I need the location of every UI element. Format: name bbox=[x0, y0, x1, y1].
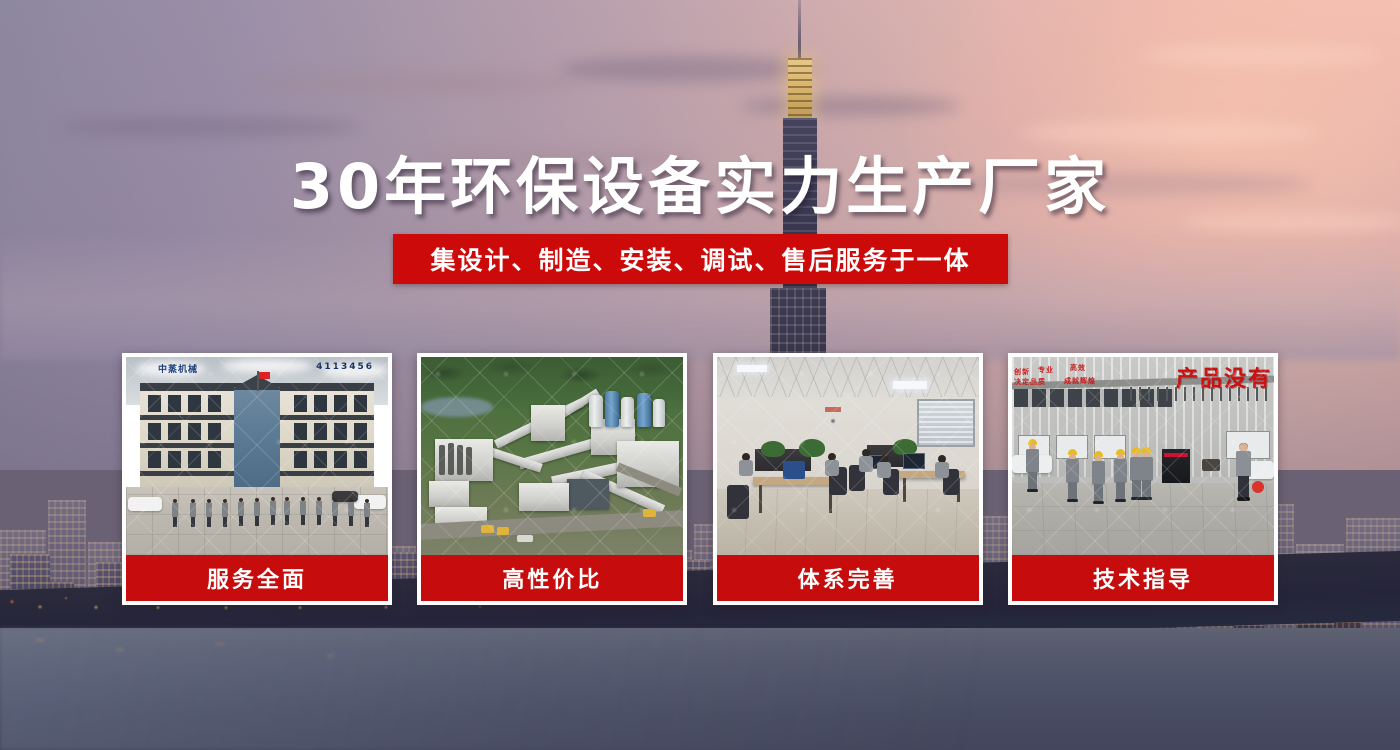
water-reflections bbox=[0, 630, 520, 676]
feature-card[interactable]: 高性价比 bbox=[417, 353, 687, 605]
feature-card[interactable]: 体系完善 bbox=[713, 353, 983, 605]
tower-crown-lit bbox=[788, 58, 812, 120]
building-sign-text: 中蒸机械 bbox=[158, 362, 258, 375]
factory-wall-small-slogan: 决定品质 bbox=[1014, 377, 1046, 387]
factory-wall-small-slogan: 成就辉煌 bbox=[1064, 376, 1096, 386]
office-interior-photo bbox=[717, 357, 979, 555]
card-caption-label: 服务全面 bbox=[207, 562, 307, 594]
feature-card[interactable]: 中蒸机械 4113456 服务全面 bbox=[122, 353, 392, 605]
building-phone-text: 4113456 bbox=[316, 362, 374, 372]
subtitle-banner: 集设计、制造、安装、调试、售后服务于一体 bbox=[393, 234, 1008, 284]
industrial-plant-aerial-photo bbox=[421, 357, 683, 555]
card-caption-label: 技术指导 bbox=[1093, 562, 1193, 594]
cloud bbox=[250, 72, 580, 94]
cloud bbox=[740, 96, 960, 116]
cloud bbox=[560, 56, 820, 82]
factory-wall-small-slogan: 创新 bbox=[1014, 367, 1030, 377]
factory-wall-small-slogan: 高效 bbox=[1070, 363, 1086, 373]
feature-card-row: 中蒸机械 4113456 服务全面 bbox=[122, 353, 1278, 605]
tower-spire bbox=[798, 0, 801, 62]
card-caption-label: 体系完善 bbox=[798, 562, 898, 594]
card-caption: 服务全面 bbox=[126, 555, 388, 601]
card-caption: 高性价比 bbox=[421, 555, 683, 601]
cloud bbox=[60, 118, 360, 136]
page-title: 30年环保设备实力生产厂家 bbox=[0, 136, 1400, 226]
card-caption: 体系完善 bbox=[717, 555, 979, 601]
technical-training-photo: 产品没有 创新 专业 决定品质 高效 成就辉煌 bbox=[1012, 357, 1274, 555]
card-caption-label: 高性价比 bbox=[502, 562, 602, 594]
subtitle-text: 集设计、制造、安装、调试、售后服务于一体 bbox=[430, 241, 970, 277]
company-headquarters-photo: 中蒸机械 4113456 bbox=[126, 357, 388, 555]
red-helmet bbox=[1252, 481, 1264, 493]
feature-card[interactable]: 产品没有 创新 专业 决定品质 高效 成就辉煌 bbox=[1008, 353, 1278, 605]
card-caption: 技术指导 bbox=[1012, 555, 1274, 601]
factory-wall-small-slogan: 专业 bbox=[1038, 365, 1054, 375]
cloud bbox=[1140, 44, 1380, 66]
